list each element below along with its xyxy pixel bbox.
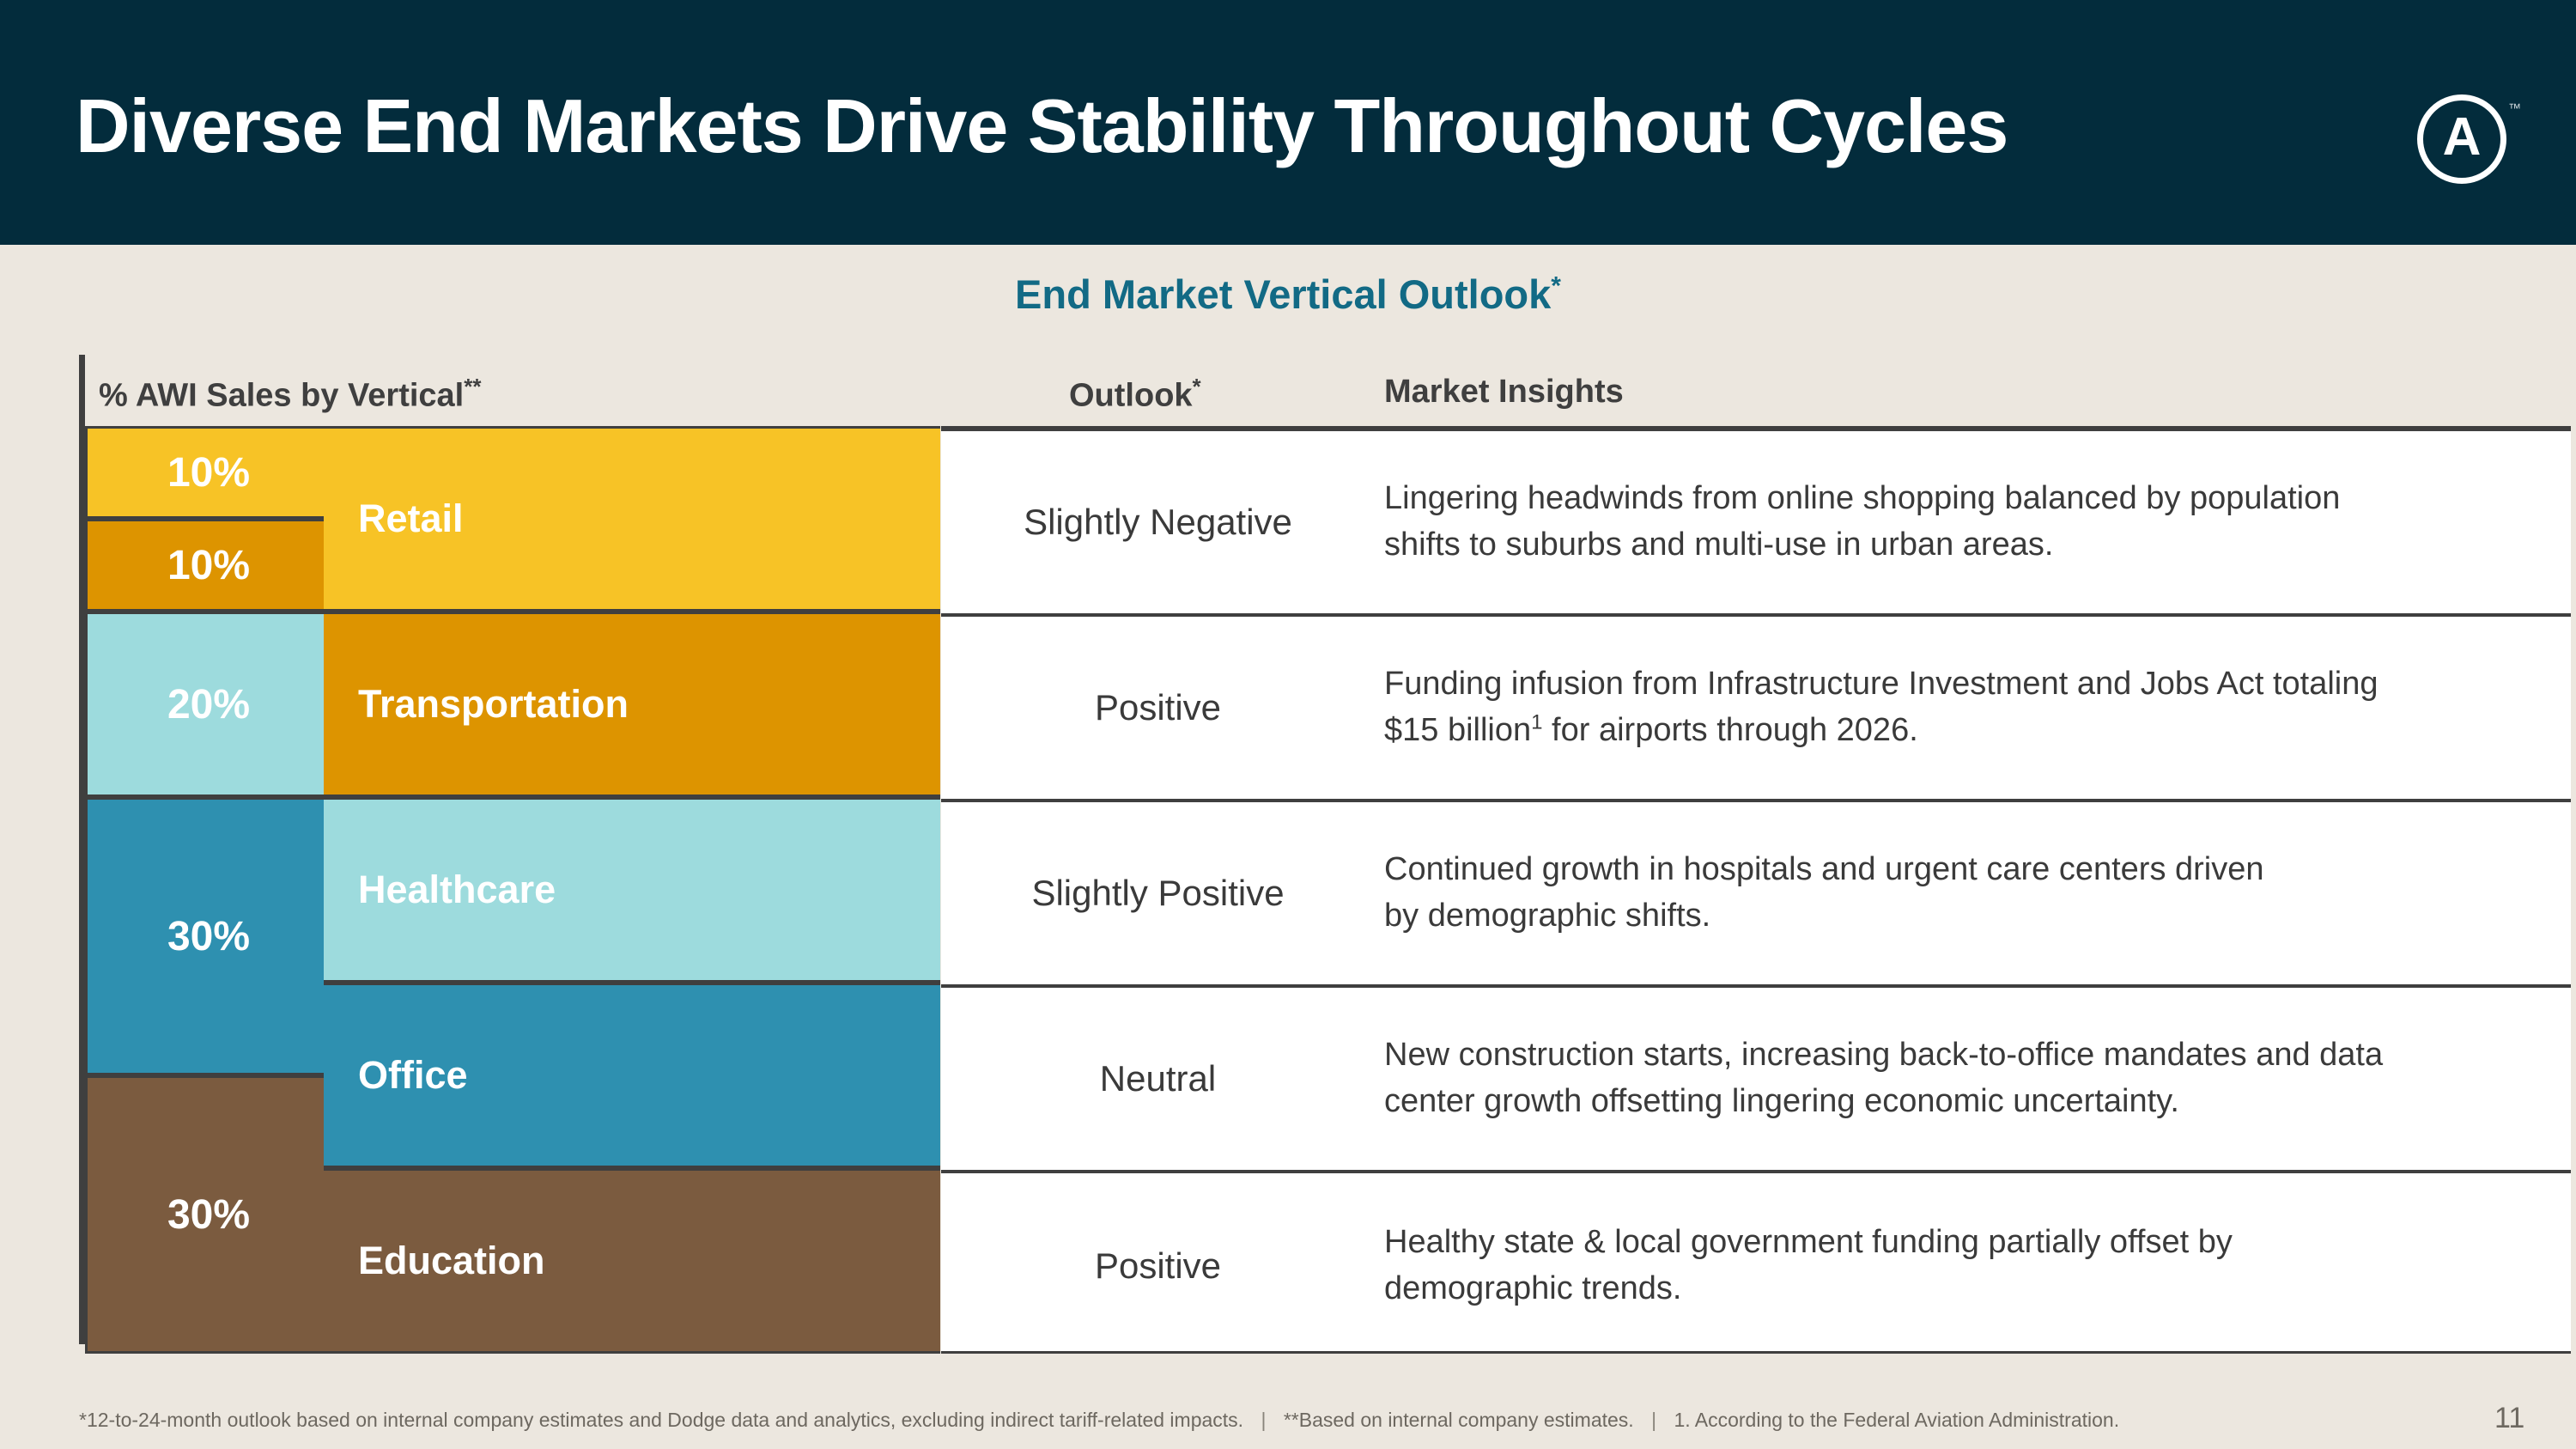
column-header-sales: % AWI Sales by Vertical** [99, 374, 482, 415]
chart-vertical-label: Healthcare [358, 868, 556, 912]
outlook-value: Slightly Positive [941, 802, 1375, 984]
table-row: Slightly PositiveContinued growth in hos… [941, 802, 2571, 988]
sales-footnote-marker: ** [464, 374, 481, 399]
outlook-table: Slightly NegativeLingering headwinds fro… [941, 426, 2571, 1354]
subtitle-text: End Market Vertical Outlook [1015, 271, 1551, 317]
section-subtitle: End Market Vertical Outlook* [0, 271, 2576, 318]
chart-percent-label: 30% [167, 1191, 250, 1239]
footnote-part-3: 1. According to the Federal Aviation Adm… [1674, 1409, 2119, 1431]
insight-footnote-marker: 1 [1531, 710, 1542, 734]
chart-percent-label: 20% [167, 681, 250, 728]
column-header-insights: Market Insights [1384, 374, 1624, 411]
table-row: Slightly NegativeLingering headwinds fro… [941, 431, 2571, 617]
chart-axis-line [79, 355, 85, 1344]
market-insight-text: Funding infusion from Infrastructure Inv… [1384, 617, 2535, 799]
footnote-separator-1: | [1249, 1409, 1278, 1431]
chart-vertical-bar-education: Education [324, 1168, 940, 1354]
footnote-part-1: *12-to-24-month outlook based on interna… [79, 1409, 1243, 1431]
column-header-outlook: Outlook* [1069, 374, 1201, 415]
footnote-part-2: **Based on internal company estimates. [1284, 1409, 1634, 1431]
chart-percent-label: 10% [167, 449, 250, 496]
page-title: Diverse End Markets Drive Stability Thro… [76, 82, 2008, 170]
chart-vertical-bar-transportation: Transportation [324, 612, 940, 797]
company-logo: A ™ [2417, 94, 2529, 206]
chart-vertical-label: Office [358, 1053, 468, 1098]
table-row: PositiveHealthy state & local government… [941, 1173, 2571, 1359]
chart-vertical-label: Retail [358, 496, 464, 541]
chart-vertical-bar-healthcare: Healthcare [324, 797, 940, 983]
chart-percent-segment: 10% [85, 426, 332, 519]
chart-vertical-bar-office: Office [324, 983, 940, 1168]
table-row: PositiveFunding infusion from Infrastruc… [941, 617, 2571, 802]
stacked-bar-chart: 10%10%20%30%30%RetailTransportationHealt… [85, 426, 944, 1354]
chart-percent-segment: 10% [85, 519, 332, 612]
market-insight-text: Continued growth in hospitals and urgent… [1384, 802, 2535, 984]
outlook-value: Slightly Negative [941, 431, 1375, 613]
outlook-value: Positive [941, 1173, 1375, 1359]
chart-percent-label: 30% [167, 913, 250, 960]
chart-percent-segment: 30% [85, 1075, 332, 1354]
outlook-footnote-marker: * [1193, 374, 1201, 399]
subtitle-footnote-marker: * [1551, 271, 1561, 300]
slide-canvas: Diverse End Markets Drive Stability Thro… [0, 0, 2576, 1449]
outlook-value: Neutral [941, 988, 1375, 1170]
table-row: NeutralNew construction starts, increasi… [941, 988, 2571, 1173]
slide-header-bar: Diverse End Markets Drive Stability Thro… [0, 0, 2576, 245]
outlook-value: Positive [941, 617, 1375, 799]
chart-vertical-bar-retail: Retail [324, 426, 940, 612]
market-insight-text: New construction starts, increasing back… [1384, 988, 2535, 1170]
chart-percent-segment: 30% [85, 797, 332, 1075]
logo-trademark-icon: ™ [2508, 101, 2521, 116]
column-header-outlook-label: Outlook [1069, 378, 1193, 414]
footnote-separator-2: | [1639, 1409, 1668, 1431]
chart-vertical-label: Transportation [358, 682, 629, 727]
column-header-sales-label: % AWI Sales by Vertical [99, 378, 464, 414]
market-insight-text: Healthy state & local government funding… [1384, 1173, 2535, 1359]
page-number: 11 [2494, 1402, 2524, 1435]
chart-percent-segment: 20% [85, 612, 332, 797]
chart-vertical-label: Education [358, 1239, 545, 1283]
market-insight-text: Lingering headwinds from online shopping… [1384, 431, 2535, 613]
footnote: *12-to-24-month outlook based on interna… [79, 1409, 2119, 1432]
chart-percent-label: 10% [167, 542, 250, 589]
logo-letter: A [2417, 94, 2506, 184]
